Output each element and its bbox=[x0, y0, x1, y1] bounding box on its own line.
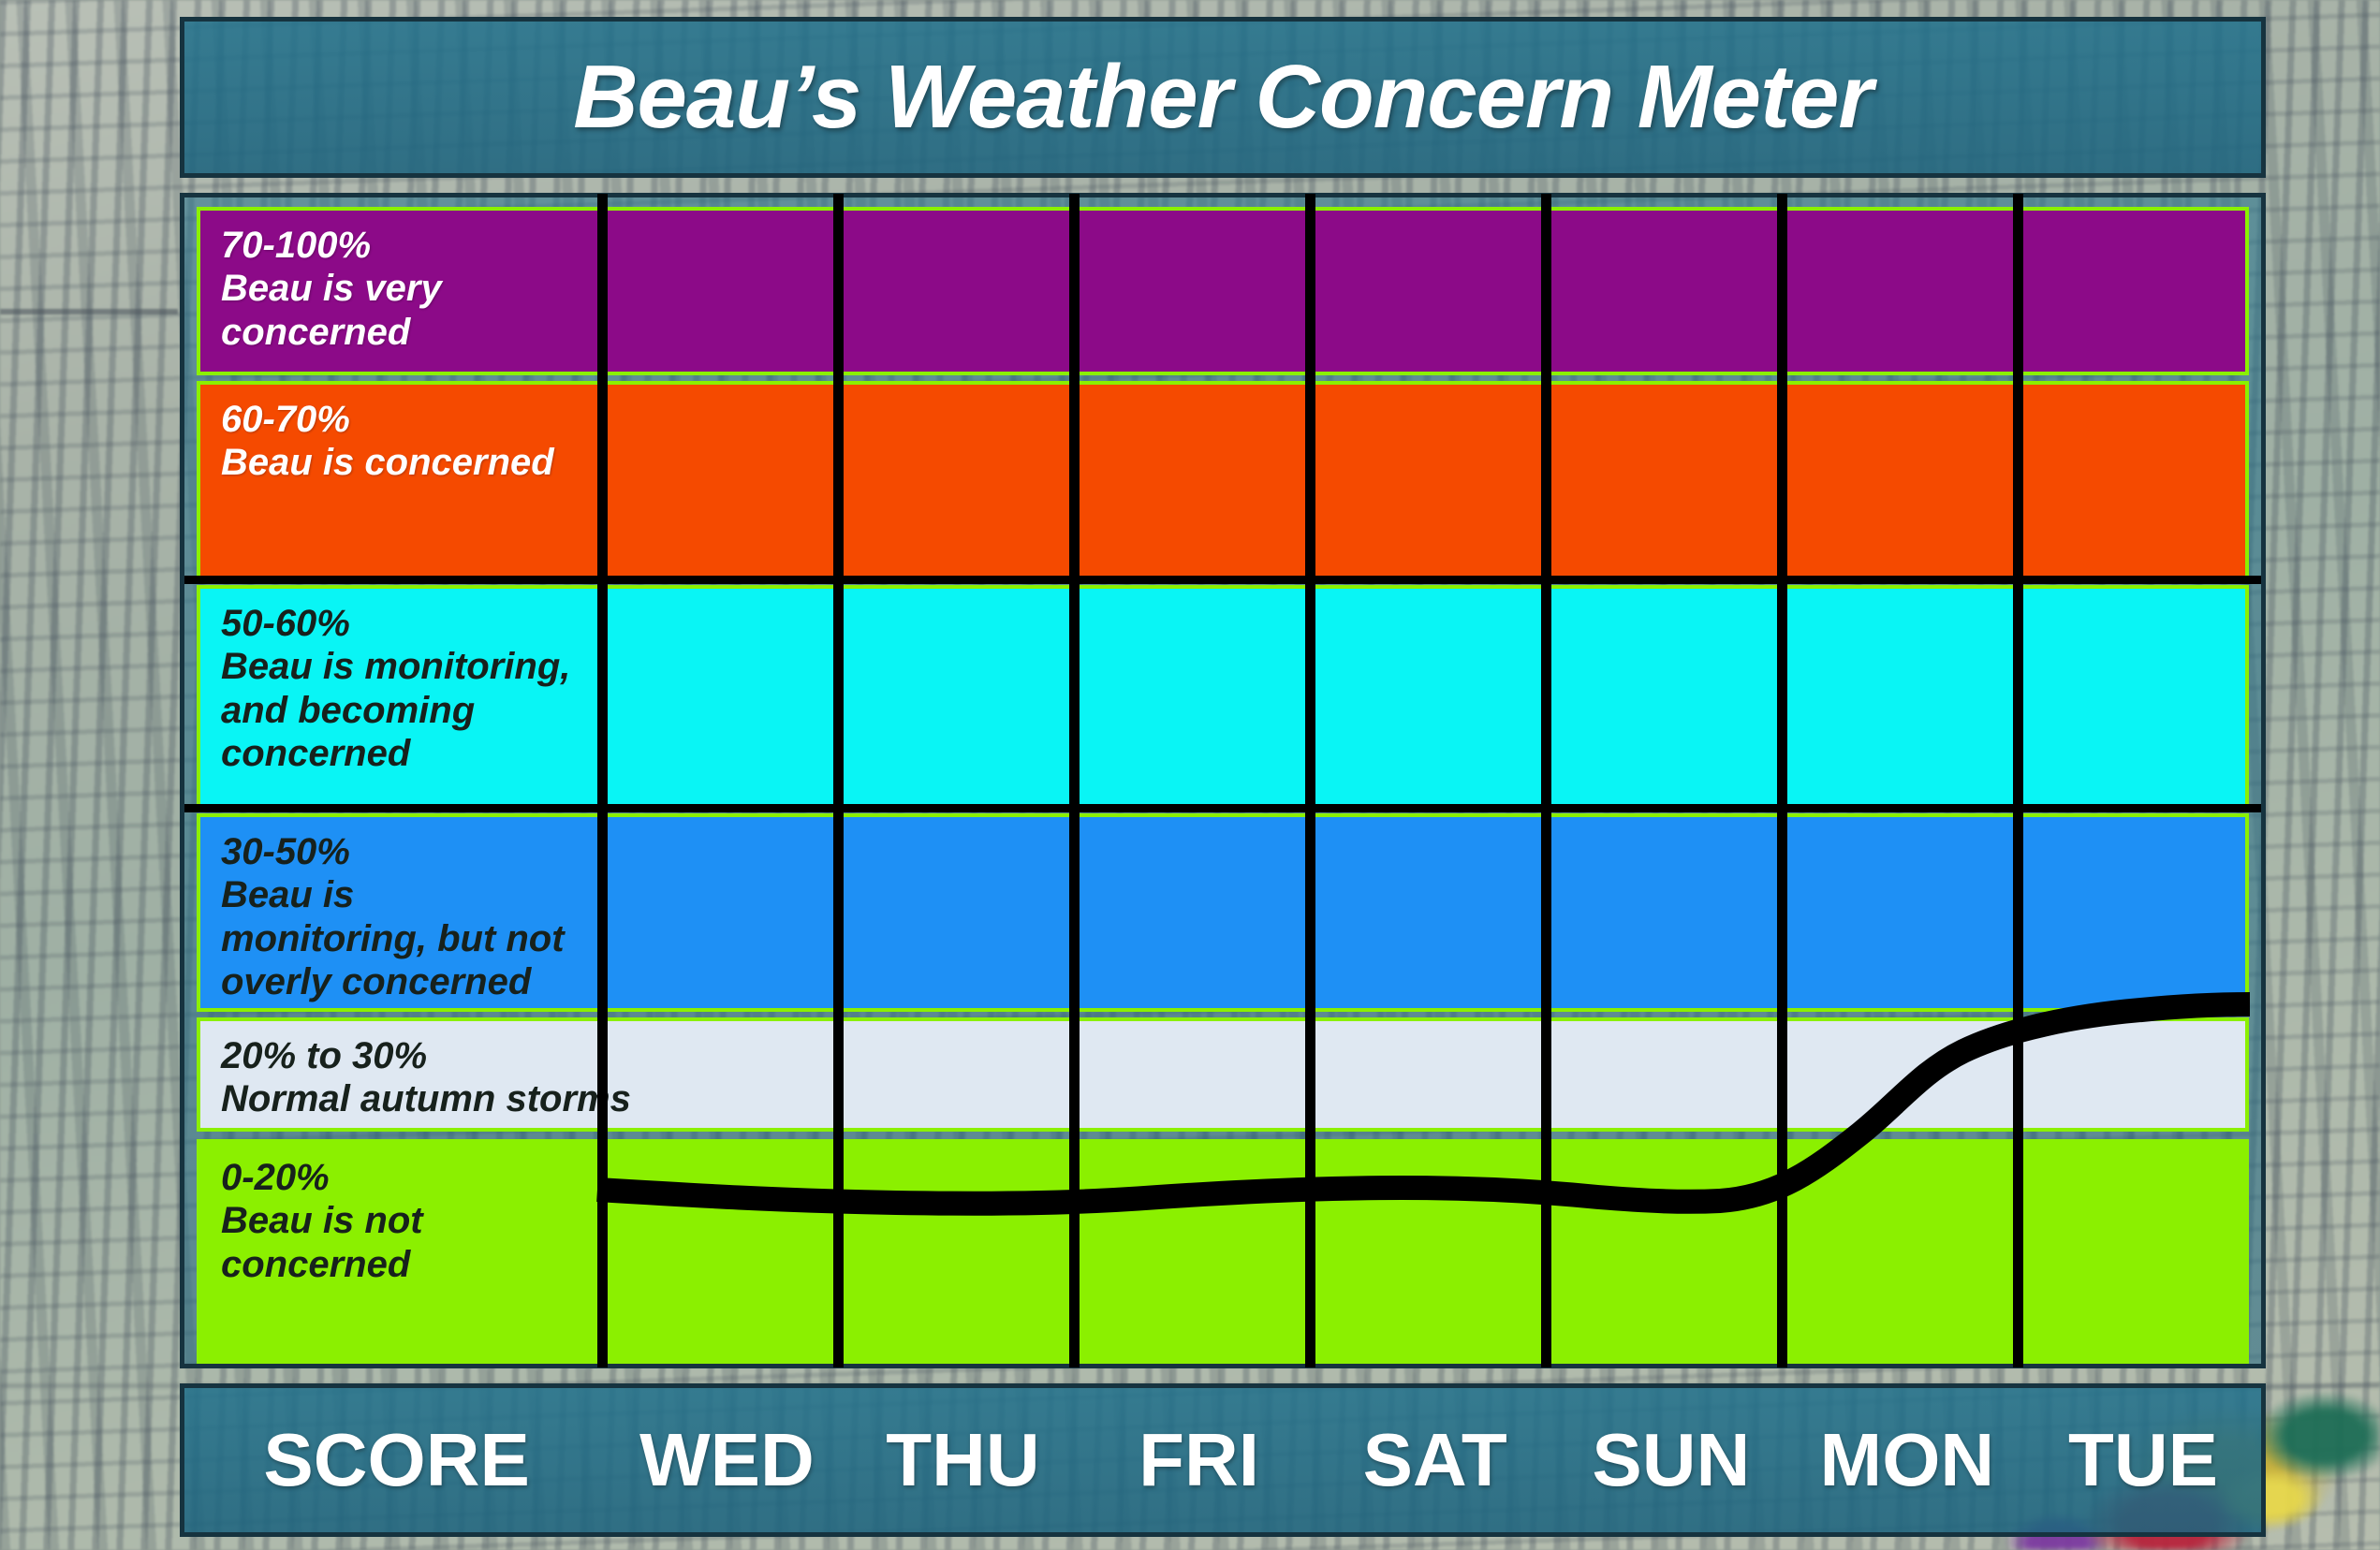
trend-line-series bbox=[184, 197, 2261, 1364]
axis-label-wed: WED bbox=[609, 1417, 845, 1503]
axis-label-sat: SAT bbox=[1317, 1417, 1553, 1503]
title-bar: Beau’s Weather Concern Meter bbox=[180, 17, 2266, 178]
axis-label-score: SCORE bbox=[184, 1417, 609, 1503]
axis-label-mon: MON bbox=[1789, 1417, 2025, 1503]
page-title: Beau’s Weather Concern Meter bbox=[573, 46, 1873, 149]
axis-label-thu: THU bbox=[845, 1417, 1080, 1503]
axis-label-tue: TUE bbox=[2025, 1417, 2261, 1503]
axis-label-sun: SUN bbox=[1553, 1417, 1789, 1503]
axis-label-fri: FRI bbox=[1081, 1417, 1317, 1503]
day-axis-bar: SCORE WEDTHUFRISATSUNMONTUE bbox=[180, 1383, 2266, 1537]
trend-line-path bbox=[597, 1004, 2250, 1204]
background-road-line bbox=[0, 309, 178, 314]
concern-meter-chart: 70-100%Beau is very concerned60-70%Beau … bbox=[180, 193, 2266, 1368]
day-axis-row: SCORE WEDTHUFRISATSUNMONTUE bbox=[184, 1388, 2261, 1532]
